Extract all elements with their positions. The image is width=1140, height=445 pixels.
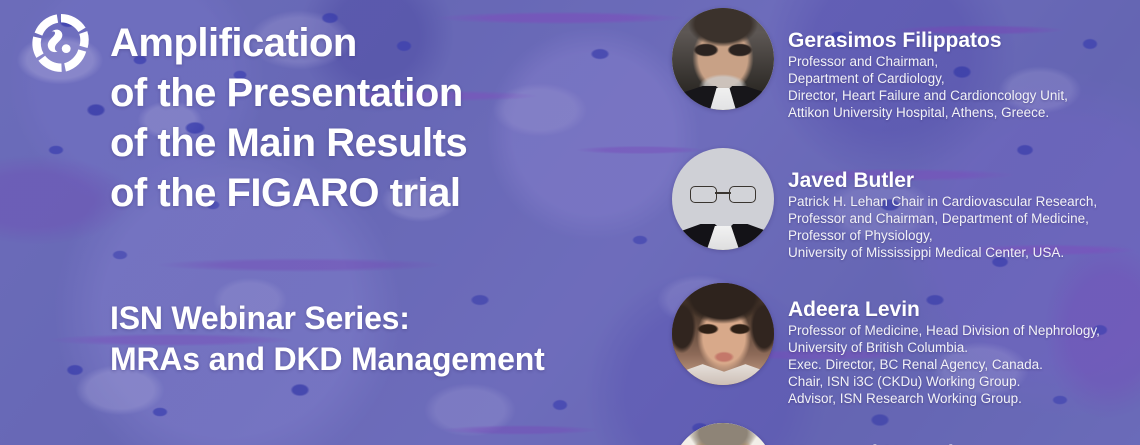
speaker-affiliation-line: Patrick H. Lehan Chair in Cardiovascular… (788, 193, 1097, 210)
title-line-4: of the FIGARO trial (110, 168, 650, 218)
speaker-affiliation-line: Advisor, ISN Research Working Group. (788, 390, 1100, 407)
series-subtitle: ISN Webinar Series: MRAs and DKD Managem… (110, 298, 650, 380)
speaker-details: Adeera Levin Professor of Medicine, Head… (788, 283, 1100, 407)
title-column: Amplification of the Presentation of the… (0, 0, 660, 445)
speaker-item-masaomi-nangaku: Masaomi Nangaku (672, 423, 972, 445)
speaker-affiliation-line: Professor of Medicine, Head Division of … (788, 322, 1100, 339)
subtitle-line-1: ISN Webinar Series: (110, 298, 650, 339)
webinar-banner: Amplification of the Presentation of the… (0, 0, 1140, 445)
speaker-details: Masaomi Nangaku (788, 423, 972, 445)
avatar-javed-butler (672, 148, 774, 250)
speaker-item-gerasimos-filippatos: Gerasimos Filippatos Professor and Chair… (672, 8, 1068, 121)
speaker-affiliation-line: Professor and Chairman, (788, 53, 1068, 70)
speaker-affiliation-line: Exec. Director, BC Renal Agency, Canada. (788, 356, 1100, 373)
speaker-affiliation-line: Department of Cardiology, (788, 70, 1068, 87)
speaker-affiliation-line: Professor and Chairman, Department of Me… (788, 210, 1097, 227)
speaker-affiliation-line: Attikon University Hospital, Athens, Gre… (788, 104, 1068, 121)
title-line-3: of the Main Results (110, 118, 650, 168)
avatar-adeera-levin (672, 283, 774, 385)
speaker-affiliation-line: University of British Columbia. (788, 339, 1100, 356)
speaker-details: Gerasimos Filippatos Professor and Chair… (788, 8, 1068, 121)
speaker-details: Javed Butler Patrick H. Lehan Chair in C… (788, 148, 1097, 261)
speaker-name: Masaomi Nangaku (788, 441, 972, 445)
avatar-masaomi-nangaku (672, 423, 774, 445)
speaker-item-javed-butler: Javed Butler Patrick H. Lehan Chair in C… (672, 148, 1097, 261)
speaker-affiliation-line: Professor of Physiology, (788, 227, 1097, 244)
isn-logo-icon (30, 12, 92, 74)
speaker-affiliation-line: Director, Heart Failure and Cardioncolog… (788, 87, 1068, 104)
speaker-affiliation-line: University of Mississippi Medical Center… (788, 244, 1097, 261)
eyeglasses-icon (690, 186, 756, 201)
speaker-name: Adeera Levin (788, 297, 1100, 322)
subtitle-line-2: MRAs and DKD Management (110, 339, 650, 380)
speaker-list: Gerasimos Filippatos Professor and Chair… (672, 0, 1140, 445)
avatar-gerasimos-filippatos (672, 8, 774, 110)
title-line-1: Amplification (110, 18, 650, 68)
speaker-name: Javed Butler (788, 168, 1097, 193)
page-title: Amplification of the Presentation of the… (110, 18, 650, 218)
speaker-name: Gerasimos Filippatos (788, 28, 1068, 53)
title-line-2: of the Presentation (110, 68, 650, 118)
speaker-item-adeera-levin: Adeera Levin Professor of Medicine, Head… (672, 283, 1100, 407)
speaker-affiliation-line: Chair, ISN i3C (CKDu) Working Group. (788, 373, 1100, 390)
